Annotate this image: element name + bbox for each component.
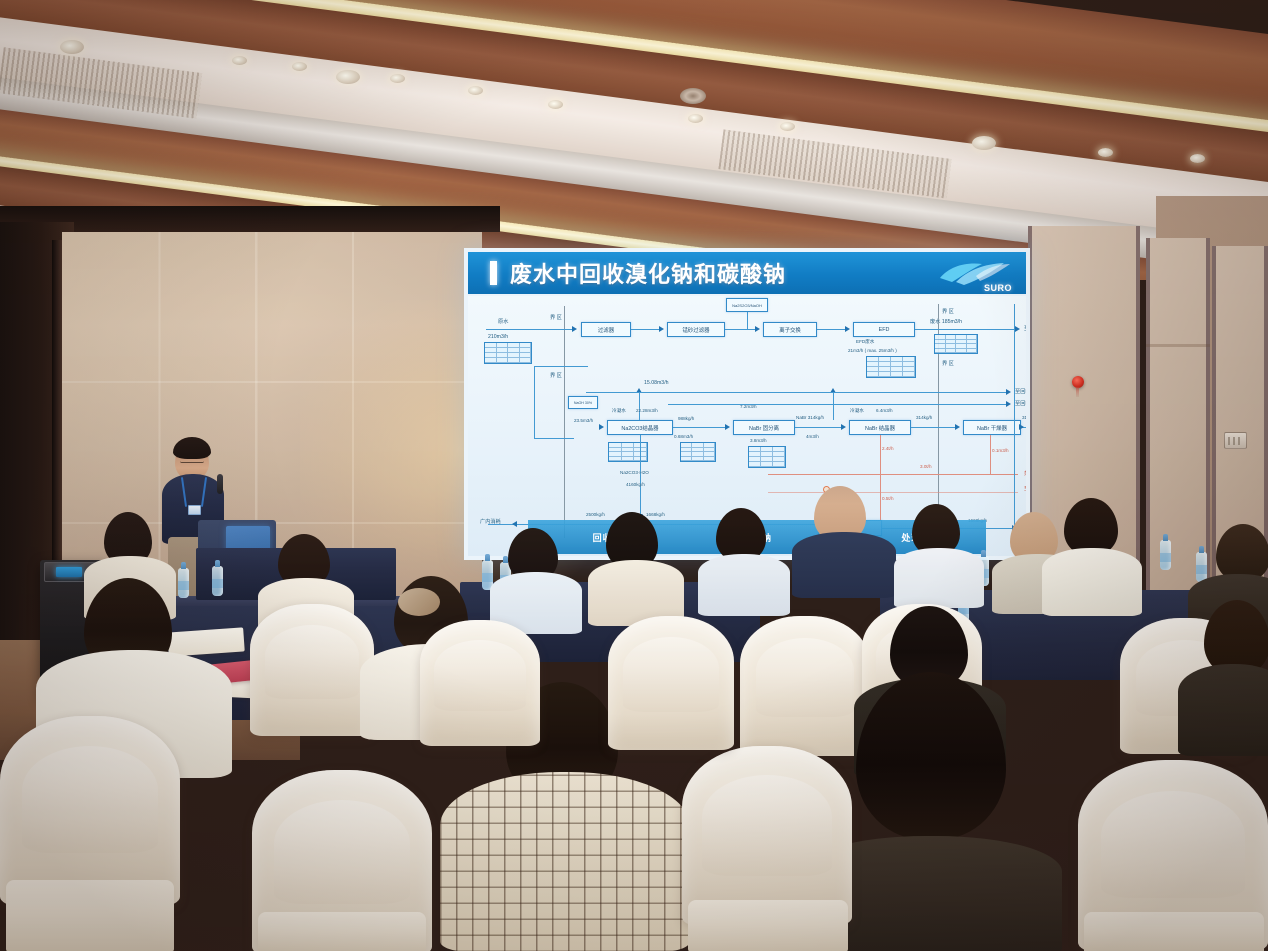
conference-room-photo: 废水中回收溴化钠和碳酸钠 SURO 界 区 界 区: [0, 0, 1268, 951]
attendee-body: [894, 548, 984, 608]
banquet-chair: [0, 716, 180, 906]
flow-label: 0.5t/h: [882, 496, 894, 501]
banquet-chair: [608, 616, 734, 750]
banquet-chair: [740, 616, 870, 756]
flow-line: [639, 392, 640, 420]
water-bottle[interactable]: [1160, 540, 1171, 570]
flow-arrow: [599, 424, 604, 430]
process-box-efd: EFD: [853, 322, 915, 337]
process-box-nabr-cryst: NaBr 结晶器: [849, 420, 911, 435]
attendee-body-suit: [792, 532, 896, 598]
flow-label: 21m3/h ( max. 25m3/h ): [848, 348, 897, 353]
wall-header-band: [0, 206, 500, 232]
flow-label: 22.28m3/h: [636, 408, 658, 413]
data-table: [608, 442, 648, 462]
flow-line: [725, 329, 755, 330]
flow-arrow: [841, 424, 846, 430]
flow-label: 314kg/h: [1022, 415, 1026, 420]
flow-line: [1014, 304, 1015, 536]
utility-line: [768, 474, 1018, 475]
water-bottle[interactable]: [178, 568, 189, 598]
flow-label: 314kg/h: [916, 415, 932, 420]
flow-arrow: [1019, 424, 1024, 430]
ceiling-downlight: [292, 62, 307, 71]
attendee-body: [1042, 548, 1142, 616]
flow-label: 冷凝水: [850, 408, 864, 414]
av-display: [56, 567, 82, 577]
flow-label: EFD废水: [856, 339, 874, 345]
flow-label: 4160kg/h: [626, 482, 645, 487]
output-label: 至回收水罐: [1015, 388, 1026, 395]
banquet-chair: [250, 604, 374, 736]
flow-line: [817, 329, 845, 330]
flow-arrow: [1015, 326, 1020, 332]
ceiling-downlight: [688, 114, 703, 123]
ceiling-downlight: [468, 86, 483, 95]
banquet-chair: [420, 620, 540, 746]
attendee-body-dark: [1178, 664, 1268, 756]
ceiling-downlight: [232, 56, 247, 65]
flow-line: [795, 427, 841, 428]
ceiling-downlight: [1098, 148, 1113, 157]
process-box-nabr-dryer: NaBr 干燥器: [963, 420, 1021, 435]
input-label: 原水: [498, 318, 508, 325]
data-table: [680, 442, 716, 462]
process-box-nabr-sep: NaBr 固分离: [733, 420, 795, 435]
flow-arrow: [725, 424, 730, 430]
process-box-reagent: Na2S2O3/NaOH: [726, 298, 768, 312]
flow-label: 4m3/h: [806, 434, 819, 439]
flow-label: NaBr 314kg/h: [796, 415, 824, 420]
flow-line: [833, 392, 834, 420]
flow-line: [915, 329, 1015, 330]
flow-label: 冷凝水: [612, 408, 626, 414]
utility-line: [990, 435, 991, 475]
chair-skirt: [1084, 912, 1264, 951]
input-label: 广内消耗: [480, 518, 501, 525]
flow-line: [668, 404, 1006, 405]
flow-label: 2500kg/h: [586, 512, 605, 517]
banquet-chair: [682, 746, 852, 926]
flow-arrow: [1006, 401, 1011, 407]
data-table: [866, 356, 916, 378]
flow-label: 1668kg/h: [646, 512, 665, 517]
logo-text: SURO: [984, 283, 1012, 293]
flow-line: [586, 392, 1006, 393]
flow-label: 15.08m3/h: [644, 380, 669, 386]
data-table: [934, 334, 978, 354]
flow-line: [673, 427, 725, 428]
flow-label: 0.68m3/h: [674, 434, 693, 439]
suro-logo: SURO: [936, 258, 1014, 294]
process-box-na2co3-cryst: Na2CO3结晶器: [607, 420, 673, 435]
output-label: 至回收水罐: [1015, 400, 1026, 407]
title-accent-bar: [490, 261, 497, 285]
boundary-label: 界 区: [550, 372, 562, 379]
flow-arrow: [955, 424, 960, 430]
utility-line: [768, 492, 1018, 493]
boundary-label: 界 区: [550, 314, 562, 321]
process-box-ion-exchange: 离子交换: [763, 322, 817, 337]
presenter-badge: [188, 505, 201, 515]
flow-arrow: [659, 326, 664, 332]
water-bottle[interactable]: [212, 566, 223, 596]
wall-seam: [1146, 344, 1210, 347]
flow-line: [747, 312, 748, 329]
flow-arrow: [512, 521, 517, 527]
page-title: 废水中回收溴化钠和碳酸钠: [510, 257, 786, 289]
flow-line: [911, 427, 955, 428]
flow-line: [640, 435, 641, 519]
process-box-filter: 过滤器: [581, 322, 631, 337]
flow-label: 3.8m3/h: [750, 438, 767, 443]
ceiling-downlight: [1190, 154, 1205, 163]
chair-skirt: [258, 912, 426, 951]
process-box-naoh: NaOH 30%: [568, 396, 598, 409]
water-bottle[interactable]: [1196, 552, 1207, 582]
battery-limit-line: [564, 306, 565, 538]
wall-control-panel[interactable]: [1224, 432, 1247, 449]
ceiling-downlight: [60, 40, 84, 54]
slide-header: 废水中回收溴化钠和碳酸钠 SURO: [468, 252, 1026, 294]
flow-arrow: [1006, 389, 1011, 395]
flow-arrow: [572, 326, 577, 332]
flow-line: [631, 329, 659, 330]
boundary-label: 界 区: [942, 308, 954, 315]
ceiling-downlight: [390, 74, 405, 83]
process-box-mn-filter: 锰砂过滤器: [667, 322, 725, 337]
ceiling-speaker: [680, 88, 706, 104]
flow-label: 0.1m3/h: [992, 448, 1009, 453]
flow-line: [534, 366, 535, 438]
flow-label: Na2CO3·H2O: [620, 470, 649, 475]
attendee-body: [698, 554, 790, 616]
ceiling-downlight: [972, 136, 996, 150]
data-table: [748, 446, 786, 468]
presenter-glasses: [180, 459, 204, 463]
flow-arrow: [755, 326, 760, 332]
flow-line: [486, 329, 572, 330]
output-label: 至生化处理: [1024, 325, 1026, 332]
input-value: 210m3/h: [488, 334, 508, 340]
attendee-hairbun: [398, 588, 440, 616]
flow-line: [534, 438, 574, 439]
output-label: 至生化处理: [1024, 486, 1026, 492]
flow-line: [534, 366, 588, 367]
fire-alarm-icon: [1072, 376, 1084, 388]
chair-skirt: [688, 900, 848, 951]
data-table: [484, 342, 532, 364]
flow-label: 废水 185m3/h: [930, 318, 962, 325]
flow-label: 3.0t/h: [920, 464, 932, 469]
ceiling-downlight: [336, 70, 360, 84]
chair-skirt: [6, 880, 174, 951]
flow-label: 6.4m3/h: [876, 408, 893, 413]
ceiling-downlight: [780, 122, 795, 131]
presenter-microphone[interactable]: [217, 474, 223, 494]
attendee-body-plaid: [440, 772, 690, 951]
flow-label: 23.5m3/h: [574, 418, 593, 423]
ceiling-downlight: [548, 100, 563, 109]
boundary-label: 界 区: [942, 360, 954, 367]
flow-arrow: [845, 326, 850, 332]
flow-label: 2.4t/h: [882, 446, 894, 451]
output-label: 蒸汽: [1024, 470, 1026, 477]
flow-label: 988kg/h: [678, 416, 694, 421]
utility-line: [880, 435, 881, 527]
